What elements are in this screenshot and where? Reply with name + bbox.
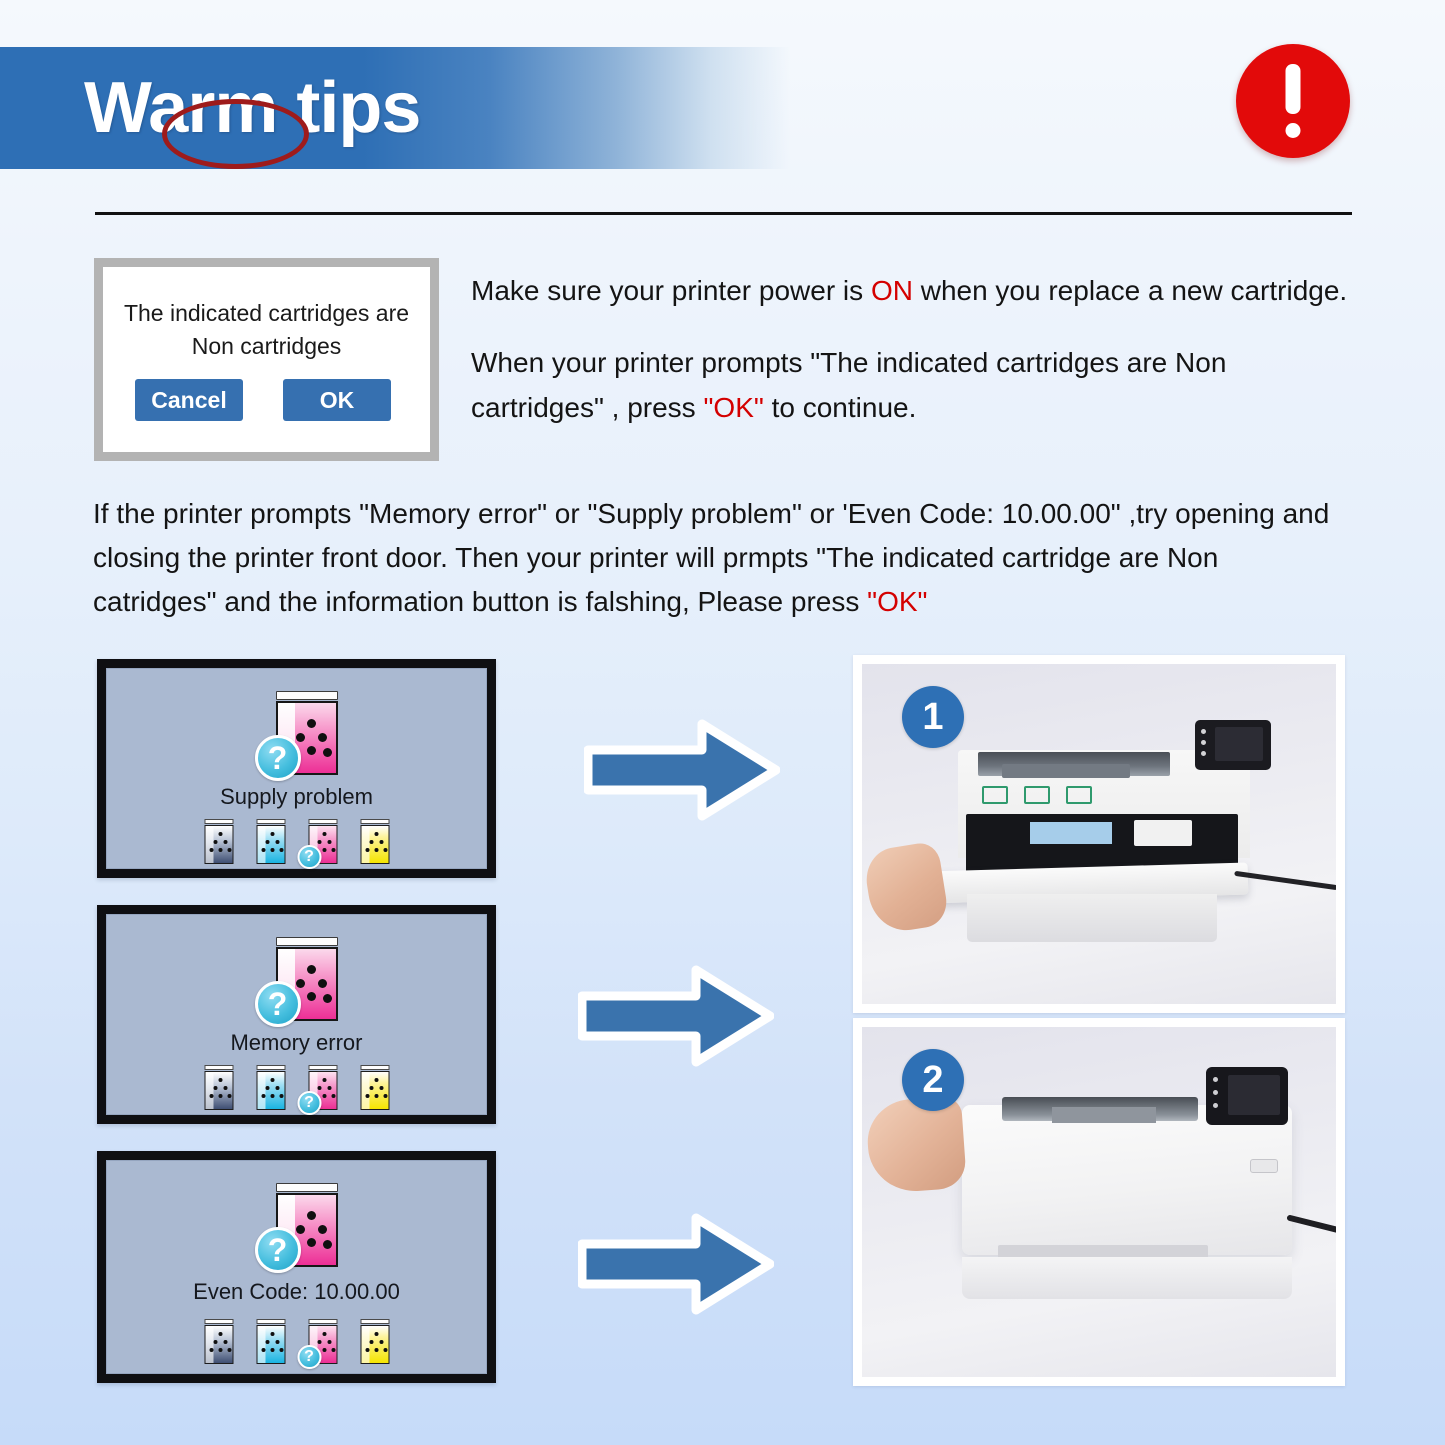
magenta-toner-warning-icon: ? <box>249 691 345 783</box>
toner-lid <box>276 1183 338 1192</box>
toner-indicator-magenta: ? <box>306 819 339 866</box>
toner-indicator-cyan <box>254 819 287 866</box>
panel-indicator-lights <box>1201 729 1209 759</box>
toner-indicator-yellow <box>358 1065 391 1112</box>
step-badge-2: 2 <box>902 1049 964 1111</box>
printer-top-lid-inner <box>1002 764 1130 778</box>
intro-p1-after: when you replace a new cartridge. <box>913 275 1347 306</box>
screen-status-label: Memory error <box>107 1030 486 1056</box>
printer-top-lid-inner <box>1052 1107 1156 1123</box>
toner-status-row: ? <box>202 1065 391 1112</box>
intro-paragraph-prompt: When your printer prompts "The indicated… <box>471 340 1361 430</box>
toner-indicator-magenta: ? <box>306 1065 339 1112</box>
power-cord <box>1286 1214 1336 1237</box>
toner-status-row: ? <box>202 1319 391 1366</box>
toner-indicator-black <box>202 1065 235 1112</box>
cancel-button[interactable]: Cancel <box>135 379 243 421</box>
horizontal-divider <box>95 212 1352 215</box>
printer-control-panel <box>1206 1067 1288 1125</box>
toner-lid <box>204 1065 233 1070</box>
photo-step-1: 1 <box>853 655 1345 1013</box>
exclamation-dot <box>1286 123 1301 138</box>
panel-indicator-lights <box>1213 1077 1221 1111</box>
page-title: Warm tips <box>84 54 420 162</box>
screen-status-label: Supply problem <box>107 784 486 810</box>
screen-inner: ? Supply problem <box>106 668 487 869</box>
question-badge-icon: ? <box>255 981 301 1027</box>
printer-screen-panel-even-code: ? Even Code: 10.00.00 <box>97 1151 496 1383</box>
right-arrow-icon <box>584 718 780 822</box>
toner-lid <box>360 1319 389 1324</box>
question-badge-icon: ? <box>297 1345 321 1369</box>
toner-lid <box>308 819 337 824</box>
toner-body <box>256 825 285 864</box>
printer-screen-panel-memory-error: ? Memory error <box>97 905 496 1124</box>
toner-lid <box>204 819 233 824</box>
intro-p2-highlight: "OK" <box>703 392 763 423</box>
magenta-toner-warning-icon: ? <box>249 937 345 1029</box>
toner-lid <box>360 1065 389 1070</box>
printer-screen-panel-supply-problem: ? Supply problem <box>97 659 496 878</box>
printer-front-door-open-icon: 1 <box>862 664 1336 1004</box>
toner-indicator-black <box>202 819 235 866</box>
note-highlight: "OK" <box>867 586 927 617</box>
dialog-message-text: The indicated cartridges are Non cartrid… <box>103 297 430 363</box>
right-arrow-icon <box>578 1212 774 1316</box>
panel-screen <box>1215 727 1263 761</box>
ok-button[interactable]: OK <box>283 379 391 421</box>
intro-paragraph-power: Make sure your printer power is ON when … <box>471 268 1361 313</box>
screen-inner: ? Even Code: 10.00.00 <box>106 1160 487 1374</box>
page-header: Warm tips <box>0 0 1445 185</box>
exclamation-bar <box>1286 64 1301 114</box>
toner-lid <box>256 1065 285 1070</box>
hand-icon <box>862 841 950 936</box>
panel-screen <box>1228 1075 1280 1115</box>
question-badge-icon: ? <box>297 845 321 869</box>
hand-icon <box>865 1096 967 1194</box>
printer-body <box>962 1105 1292 1255</box>
question-badge-icon: ? <box>255 735 301 781</box>
printer-dialog-mock: The indicated cartridges are Non cartrid… <box>94 258 439 461</box>
printer-instruction-decals <box>982 786 1152 808</box>
question-badge-icon: ? <box>297 1091 321 1115</box>
toner-body <box>256 1071 285 1110</box>
toner-lid <box>256 819 285 824</box>
toner-lid <box>256 1319 285 1324</box>
right-arrow-icon <box>578 964 774 1068</box>
toner-lid <box>308 1319 337 1324</box>
toner-status-row: ? <box>202 819 391 866</box>
toner-lid <box>204 1319 233 1324</box>
troubleshooting-note: If the printer prompts "Memory error" or… <box>93 492 1343 624</box>
exclamation-circle-icon <box>1236 44 1350 158</box>
screen-inner: ? Memory error <box>106 914 487 1115</box>
cartridge-label <box>1134 820 1192 846</box>
intro-p1-highlight: ON <box>871 275 913 306</box>
question-badge-icon: ? <box>255 1227 301 1273</box>
intro-p2-after: to continue. <box>764 392 917 423</box>
printer-paper-tray <box>967 894 1217 942</box>
power-cord <box>1234 871 1336 890</box>
screen-status-label: Even Code: 10.00.00 <box>107 1279 486 1305</box>
toner-body <box>204 1071 233 1110</box>
toner-indicator-yellow <box>358 1319 391 1366</box>
photo-step-2: 2 <box>853 1018 1345 1386</box>
toner-body <box>204 825 233 864</box>
power-button-icon <box>1250 1159 1278 1173</box>
toner-indicator-cyan <box>254 1065 287 1112</box>
toner-lid <box>276 691 338 700</box>
printer-paper-tray <box>962 1257 1292 1299</box>
toner-indicator-magenta: ? <box>306 1319 339 1366</box>
printer-control-panel <box>1195 720 1271 770</box>
step-badge-1: 1 <box>902 686 964 748</box>
toner-indicator-black <box>202 1319 235 1366</box>
toner-lid <box>308 1065 337 1070</box>
toner-body <box>360 1071 389 1110</box>
magenta-toner-warning-icon: ? <box>249 1183 345 1275</box>
toner-body <box>204 1325 233 1364</box>
toner-indicator-cyan <box>254 1319 287 1366</box>
toner-body <box>256 1325 285 1364</box>
toner-body <box>360 825 389 864</box>
toner-lid <box>360 819 389 824</box>
dialog-button-row: Cancel OK <box>103 379 430 424</box>
toner-lid <box>276 937 338 946</box>
note-before: If the printer prompts "Memory error" or… <box>93 498 1329 617</box>
toner-indicator-yellow <box>358 819 391 866</box>
printer-front-door-closed-icon: 2 <box>862 1027 1336 1377</box>
intro-text-block: Make sure your printer power is ON when … <box>471 268 1361 430</box>
toner-body <box>360 1325 389 1364</box>
cartridge-blue-strip <box>1030 822 1112 844</box>
intro-p1-before: Make sure your printer power is <box>471 275 871 306</box>
